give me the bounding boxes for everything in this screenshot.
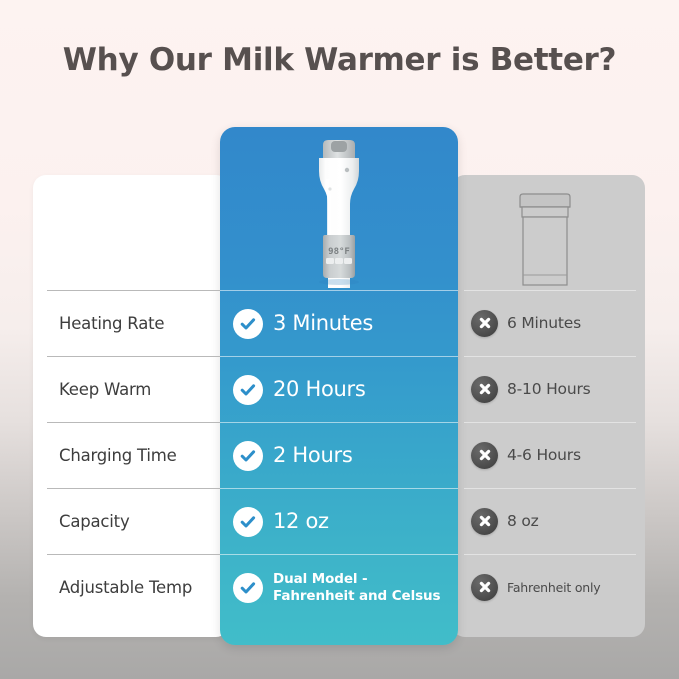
competitor-product-image xyxy=(452,175,645,290)
table-row[interactable]: Keep Warm 20 Hours 8-10 Hours xyxy=(0,356,679,422)
table-row[interactable]: Charging Time 2 Hours 4-6 Hours xyxy=(0,422,679,488)
competitor-value-heating-rate: 6 Minutes xyxy=(452,290,645,356)
competitor-value-capacity: 8 oz xyxy=(452,488,645,554)
competitor-value-text: Fahrenheit only xyxy=(507,580,601,595)
our-value-text: 3 Minutes xyxy=(273,311,373,335)
competitor-value-text: 6 Minutes xyxy=(507,314,581,332)
table-row[interactable]: Capacity 12 oz 8 oz xyxy=(0,488,679,554)
competitor-value-text: 8-10 Hours xyxy=(507,380,591,398)
check-circle-icon xyxy=(233,309,263,339)
check-circle-icon xyxy=(233,375,263,405)
check-circle-icon xyxy=(233,441,263,471)
competitor-value-text: 8 oz xyxy=(507,512,539,530)
our-value-adjustable-temp: Dual Model - Fahrenheit and Celsus xyxy=(220,554,458,620)
our-value-charging-time: 2 Hours xyxy=(220,422,458,488)
our-product-image: 98°F xyxy=(220,127,458,290)
table-row[interactable]: Adjustable Temp Dual Model - Fahrenheit … xyxy=(0,554,679,620)
svg-text:98°F: 98°F xyxy=(328,247,350,257)
our-value-text: 20 Hours xyxy=(273,377,366,401)
x-circle-icon xyxy=(471,442,498,469)
check-circle-icon xyxy=(233,507,263,537)
table-row[interactable]: Heating Rate 3 Minutes 6 Minutes xyxy=(0,290,679,356)
row-label-heating-rate: Heating Rate xyxy=(59,290,224,356)
competitor-value-text: 4-6 Hours xyxy=(507,446,581,464)
row-label-capacity: Capacity xyxy=(59,488,224,554)
competitor-value-keep-warm: 8-10 Hours xyxy=(452,356,645,422)
row-label-keep-warm: Keep Warm xyxy=(59,356,224,422)
comparison-table: Heating Rate 3 Minutes 6 Minutes Keep Wa… xyxy=(0,0,679,679)
our-value-text: Dual Model - Fahrenheit and Celsus xyxy=(273,571,440,605)
our-value-keep-warm: 20 Hours xyxy=(220,356,458,422)
our-value-text: 2 Hours xyxy=(273,443,352,467)
x-circle-icon xyxy=(471,574,498,601)
competitor-value-adjustable-temp: Fahrenheit only xyxy=(452,554,645,620)
our-value-heating-rate: 3 Minutes xyxy=(220,290,458,356)
competitor-value-charging-time: 4-6 Hours xyxy=(452,422,645,488)
page-title: Why Our Milk Warmer is Better? xyxy=(0,42,679,78)
our-value-capacity: 12 oz xyxy=(220,488,458,554)
our-value-text: 12 oz xyxy=(273,509,329,533)
row-label-charging-time: Charging Time xyxy=(59,422,224,488)
row-label-adjustable-temp: Adjustable Temp xyxy=(59,554,224,620)
x-circle-icon xyxy=(471,310,498,337)
x-circle-icon xyxy=(471,376,498,403)
check-circle-icon xyxy=(233,573,263,603)
x-circle-icon xyxy=(471,508,498,535)
